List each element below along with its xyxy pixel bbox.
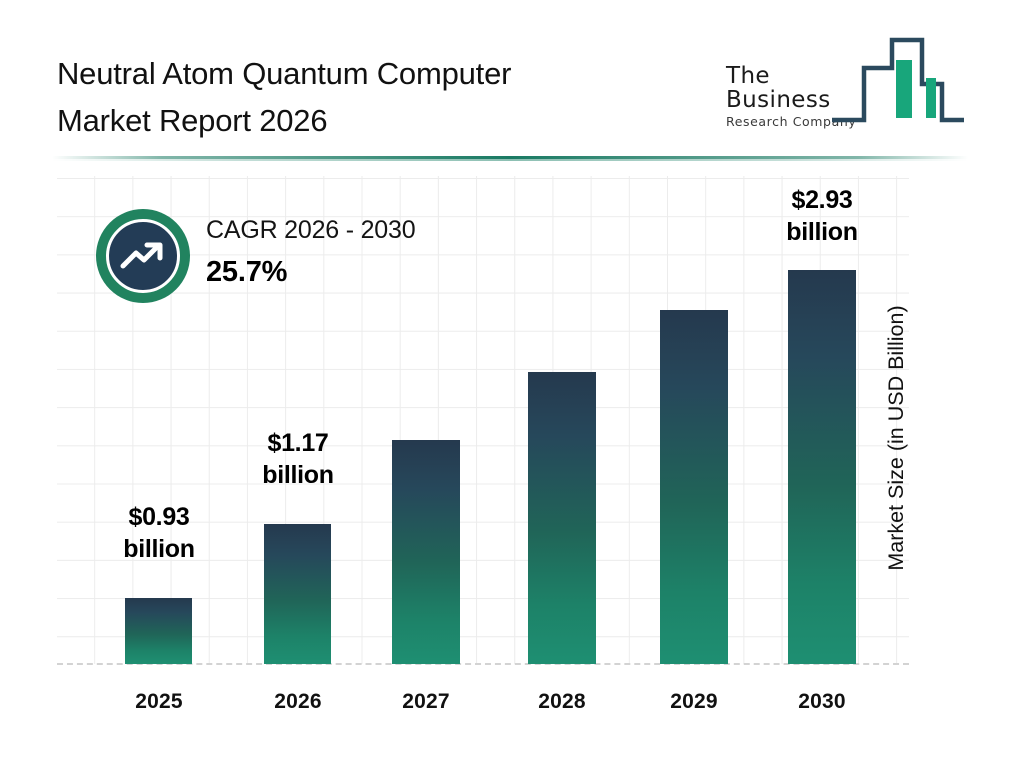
bar-value-label-2025-unit: billion [98,533,220,565]
bar-value-label-2030: $2.93 billion [761,184,883,248]
bar-value-label-2025-amount: $0.93 [128,503,189,531]
bar-value-label-2025: $0.93 billion [98,501,220,565]
bar-2030[interactable] [788,270,856,664]
page-title-line-2: Market Report 2026 [57,97,697,144]
bar-value-label-2026-amount: $1.17 [267,429,328,457]
bar-2026[interactable] [264,524,331,664]
bar-value-label-2026: $1.17 billion [237,427,359,491]
bar-2025[interactable] [125,598,192,664]
page-title: Neutral Atom Quantum Computer Market Rep… [57,50,697,144]
x-axis-tick-2030: 2030 [761,690,883,714]
bar-value-label-2030-unit: billion [761,216,883,248]
chart-page: Neutral Atom Quantum Computer Market Rep… [0,0,1024,768]
x-axis-tick-2026: 2026 [237,690,359,714]
bar-2028[interactable] [528,372,596,664]
cagr-badge [96,209,190,303]
cagr-text-block: CAGR 2026 - 2030 25.7% [206,215,506,289]
y-axis-title: Market Size (in USD Billion) [884,0,918,248]
trending-up-arrow-icon [119,237,167,275]
bar-value-label-2026-unit: billion [237,459,359,491]
page-title-line-1: Neutral Atom Quantum Computer [57,50,697,97]
cagr-range-label: CAGR 2026 - 2030 [206,215,506,245]
x-axis-tick-2028: 2028 [501,690,623,714]
header: Neutral Atom Quantum Computer Market Rep… [0,0,1024,160]
bar-2029[interactable] [660,310,728,664]
bar-2027[interactable] [392,440,460,664]
cagr-callout: CAGR 2026 - 2030 25.7% [96,209,516,309]
x-axis-tick-2025: 2025 [98,690,220,714]
x-axis-tick-2029: 2029 [633,690,755,714]
x-axis-tick-2027: 2027 [365,690,487,714]
bar-value-label-2030-amount: $2.93 [791,186,852,214]
cagr-badge-inner [106,219,180,293]
company-logo: The Business Research Company [726,28,966,136]
cagr-value: 25.7% [206,257,506,289]
y-axis-title-text: Market Size (in USD Billion) [884,248,909,628]
header-divider [52,156,968,162]
divider-bottom-line [52,159,968,161]
